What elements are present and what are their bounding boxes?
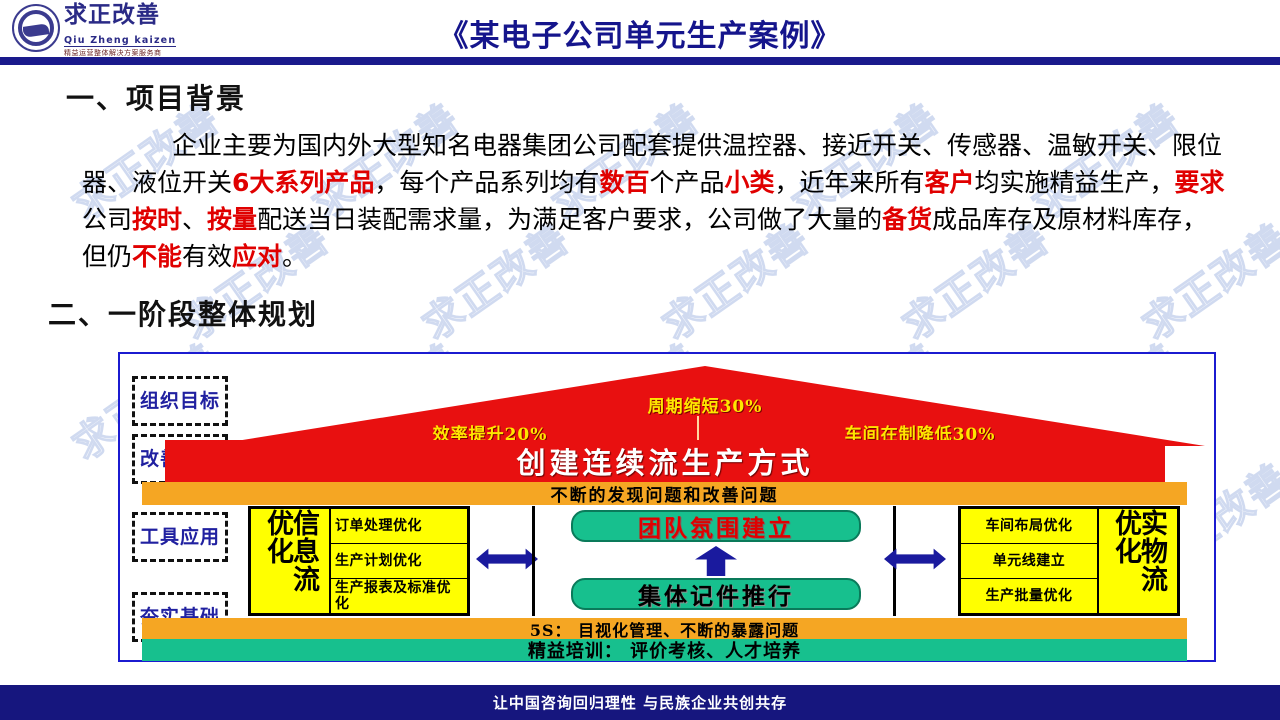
- pillar-right-item: 单元线建立: [961, 544, 1097, 579]
- slide-footer: 让中国咨询回归理性 与民族企业共创共存: [0, 685, 1280, 720]
- paragraph-highlight: 6大系列产品: [232, 168, 374, 197]
- pillar-physical-flow: 车间布局优化 单元线建立 生产批量优化 实物流优化: [958, 506, 1180, 616]
- paragraph-highlight: 按时: [132, 205, 182, 234]
- diagram-roof: 周期缩短30% 效率提升20% 车间在制降低30%: [205, 366, 1205, 446]
- paragraph-part: 均实施精益生产，: [975, 168, 1175, 197]
- pillar-right-items: 车间布局优化 单元线建立 生产批量优化: [961, 509, 1099, 613]
- paragraph-part: ，每个产品系列均有: [374, 168, 599, 197]
- pillar-left-items: 订单处理优化 生产计划优化 生产报表及标准优化: [329, 509, 467, 613]
- pillar-information-flow: 信息流优化 订单处理优化 生产计划优化 生产报表及标准优化: [248, 506, 470, 616]
- pillar-left-item: 订单处理优化: [331, 509, 467, 544]
- banner-main-vision: 创建连续流生产方式: [165, 440, 1165, 482]
- paragraph-part: 有效: [182, 242, 232, 271]
- paragraph-highlight: 数百: [599, 168, 649, 197]
- paragraph-highlight: 小类: [724, 168, 774, 197]
- section-heading-plan: 二、一阶段整体规划: [48, 293, 318, 333]
- page-title: 《某电子公司单元生产案例》: [0, 11, 1280, 55]
- paragraph-highlight: 备货: [882, 205, 932, 234]
- header-divider: [0, 57, 1280, 65]
- paragraph-highlight: 按量: [207, 205, 257, 234]
- paragraph-highlight: 要求: [1175, 168, 1225, 197]
- background-paragraph: 企业主要为国内外大型知名电器集团公司配套提供温控器、接近开关、传感器、温敏开关、…: [82, 127, 1232, 275]
- pillar-left-item: 生产计划优化: [331, 544, 467, 579]
- pillar-left-title: 信息流优化: [251, 509, 329, 613]
- paragraph-highlight: 应对: [232, 242, 282, 271]
- foundation-bar-training: 精益培训： 评价考核、人才培养: [142, 639, 1187, 661]
- side-label-tool-application: 工具应用: [132, 512, 228, 562]
- paragraph-highlight: 不能: [132, 242, 182, 271]
- center-culture-column: 团队氛围建立 集体记件推行: [532, 506, 896, 616]
- left-bidirectional-arrow-icon: [476, 546, 538, 572]
- house-diagram: 组织目标 改善目的 工具应用 夯实基础 周期缩短30% 效率提升20% 车间在制…: [118, 352, 1216, 662]
- paragraph-part: 。: [282, 242, 307, 271]
- pillar-right-title: 实物流优化: [1099, 509, 1177, 613]
- paragraph-part: 公司: [82, 205, 132, 234]
- paragraph-part: ，近年来所有: [774, 168, 924, 197]
- foundation-bar-5s: 5S： 目视化管理、不断的暴露问题: [142, 618, 1187, 639]
- roof-goal-cycle-time: 周期缩短30%: [205, 392, 1205, 417]
- center-box-group-piece-rate: 集体记件推行: [571, 578, 861, 610]
- up-arrow-icon: [695, 546, 737, 576]
- paragraph-part: 配送当日装配需求量，为满足客户要求，公司做了大量的: [257, 205, 882, 234]
- paragraph-part: 个产品: [649, 168, 724, 197]
- section-heading-background: 一、项目背景: [66, 77, 246, 117]
- pillar-right-item: 车间布局优化: [961, 509, 1097, 544]
- pillar-left-item: 生产报表及标准优化: [331, 579, 467, 613]
- paragraph-highlight: 客户: [925, 168, 975, 197]
- paragraph-part: 、: [182, 205, 207, 234]
- center-box-team-atmosphere: 团队氛围建立: [571, 510, 861, 542]
- pillar-right-item: 生产批量优化: [961, 579, 1097, 613]
- banner-sub-continuous-improvement: 不断的发现问题和改善问题: [142, 482, 1187, 505]
